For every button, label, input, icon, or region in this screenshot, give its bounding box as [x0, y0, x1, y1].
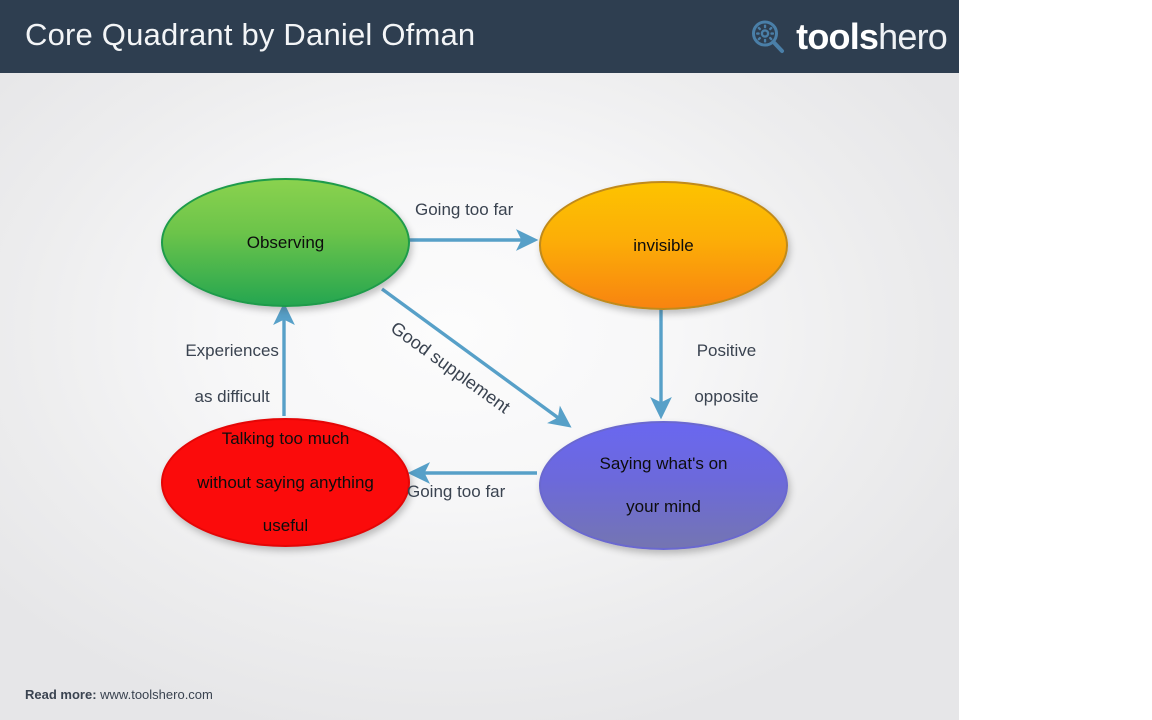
node-core-quality-label: Observing — [233, 232, 338, 254]
read-more-url[interactable]: www.toolshero.com — [100, 687, 213, 702]
node-allergy[interactable]: Talking too muchwithout saying anythingu… — [161, 418, 410, 547]
node-challenge-label: Saying what's onyour mind — [572, 453, 756, 518]
page-title: Core Quadrant by Daniel Ofman — [25, 17, 475, 53]
toolshero-logo: toolshero — [749, 13, 947, 61]
node-challenge-line1: Saying what's on — [586, 453, 742, 475]
slide-header: Core Quadrant by Daniel Ofman — [0, 0, 959, 73]
node-challenge-line2: your mind — [586, 496, 742, 518]
brand-wordmark: toolshero — [796, 19, 947, 55]
edge-label-positive-line1: Positive — [697, 341, 757, 360]
edge-label-going-too-far-bottom: Going too far — [407, 481, 505, 504]
arrow-good-supplement — [382, 289, 568, 425]
edge-label-experiences-line1: Experiences — [185, 341, 279, 360]
brand-name-light: hero — [878, 16, 947, 57]
slide-canvas: Core Quadrant by Daniel Ofman — [0, 0, 959, 720]
edge-label-positive-line2: opposite — [694, 387, 758, 406]
edge-label-positive-opposite: Positive opposite — [666, 317, 759, 432]
edge-label-going-too-far-top: Going too far — [415, 199, 513, 222]
read-more-label: Read more: — [25, 687, 97, 702]
brand-name-bold: tools — [796, 16, 878, 57]
arrow-connectors — [0, 73, 959, 653]
node-core-quality[interactable]: Observing — [161, 178, 410, 307]
magnifier-gear-icon — [749, 18, 787, 56]
edge-label-experiences-as-difficult: Experiences as difficult — [157, 317, 279, 432]
node-allergy-line2: without saying anything — [183, 472, 388, 494]
edge-label-experiences-line2: as difficult — [194, 387, 269, 406]
node-pitfall[interactable]: invisible — [539, 181, 788, 310]
node-pitfall-label: invisible — [619, 235, 707, 257]
core-quadrant-diagram: Observing invisible Talking too muchwith… — [0, 73, 959, 653]
read-more-footer: Read more: www.toolshero.com — [25, 687, 213, 702]
node-allergy-label: Talking too muchwithout saying anythingu… — [169, 428, 402, 537]
node-allergy-line3: useful — [183, 515, 388, 537]
node-challenge[interactable]: Saying what's onyour mind — [539, 421, 788, 550]
